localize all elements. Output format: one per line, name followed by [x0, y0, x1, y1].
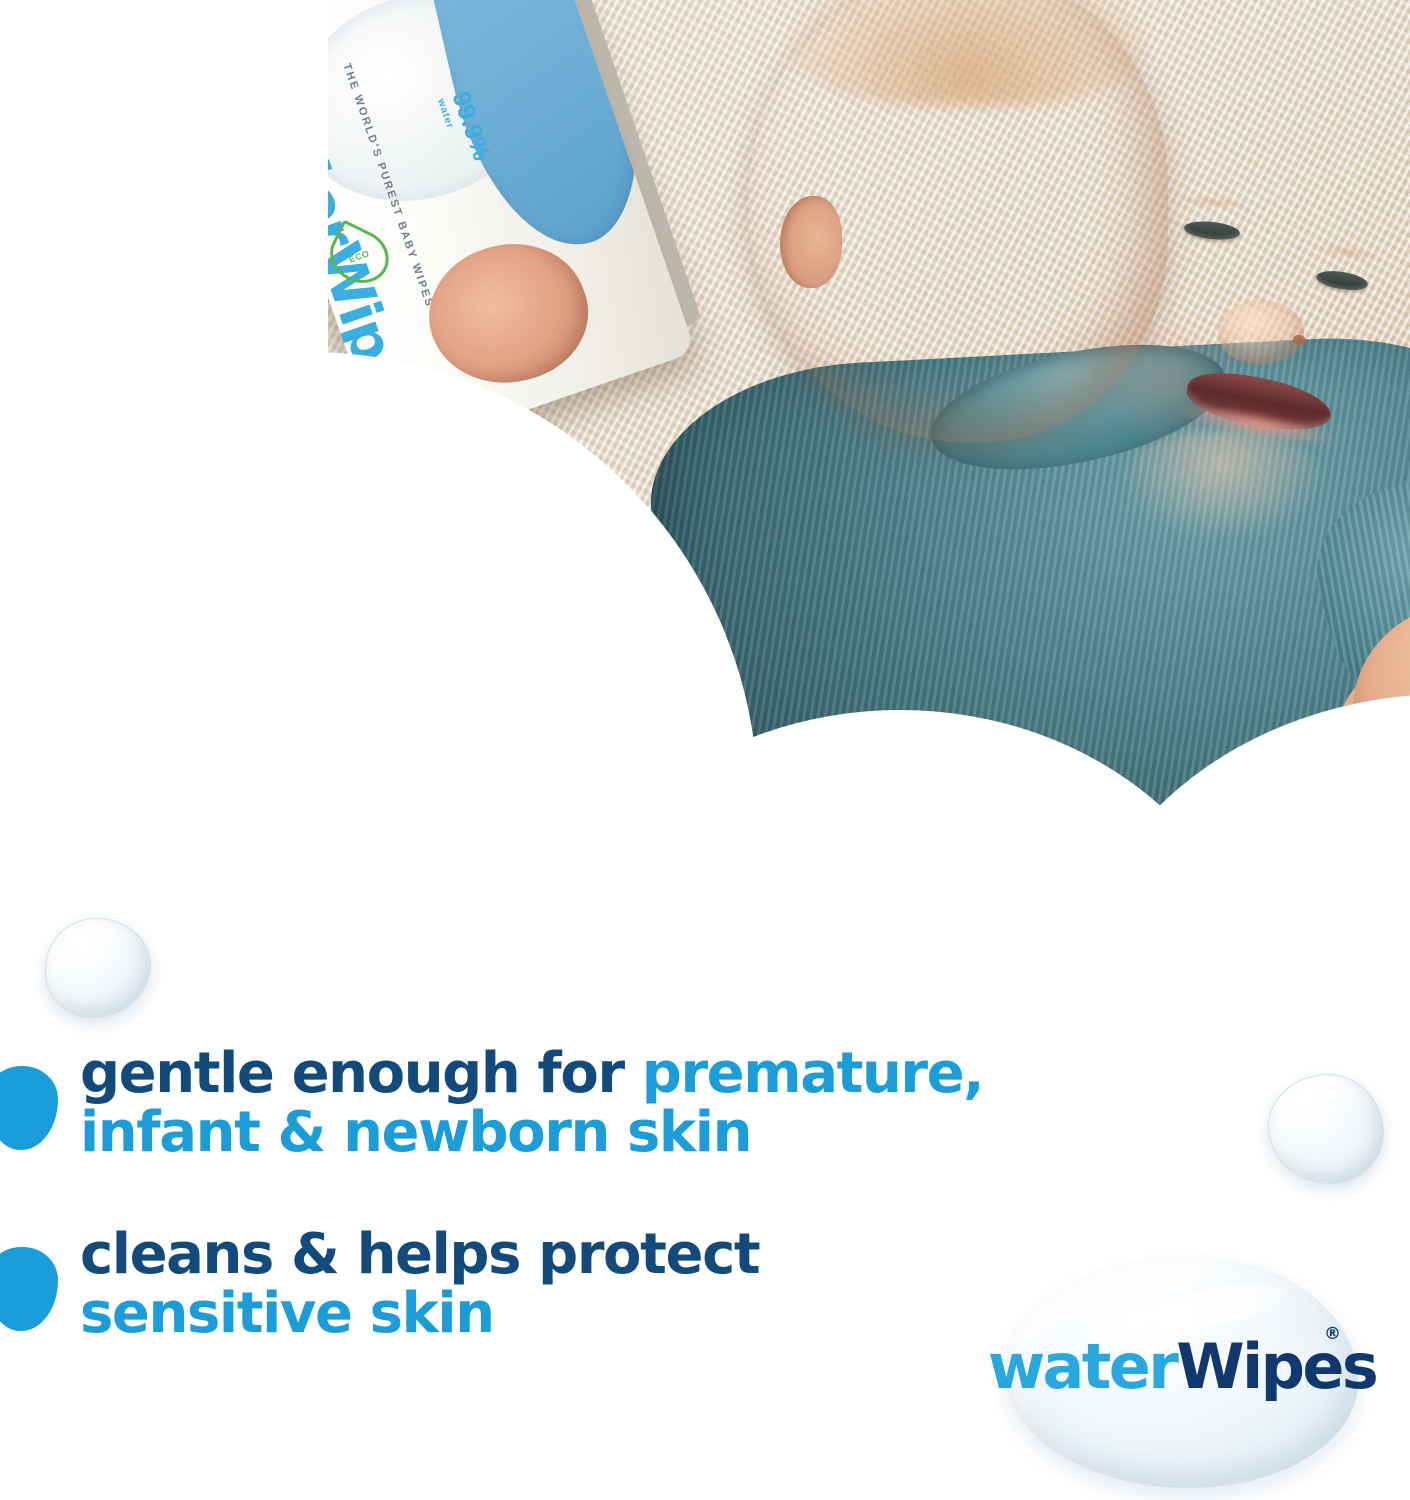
claim-2-line-2: sensitive skin	[80, 1281, 494, 1346]
claims-list: gentle enough for premature, infant & ne…	[0, 1044, 1000, 1405]
hero-photo: waterWipes THE WORLD'S PUREST BABY WIPES…	[188, 0, 1410, 1010]
water-drop-bullet-icon	[0, 1066, 58, 1150]
eco-badge-label: ECO	[347, 248, 370, 264]
package-newborn-photo	[411, 223, 606, 405]
baby-nose	[1218, 300, 1304, 364]
claim-2-line-1: cleans & helps protect	[80, 1222, 759, 1287]
claim-item-cleans: cleans & helps protect sensitive skin	[0, 1225, 1000, 1344]
claim-item-gentle: gentle enough for premature, infant & ne…	[0, 1044, 1000, 1163]
registered-trademark-icon: ®	[1324, 1324, 1341, 1344]
baby-ear	[780, 196, 842, 288]
claim-1-line-1-dark: gentle enough for	[80, 1041, 642, 1106]
brand-word-light: water	[988, 1330, 1176, 1403]
water-droplet-right-icon	[1268, 1074, 1384, 1184]
claim-text-gentle: gentle enough for premature, infant & ne…	[80, 1044, 983, 1163]
claim-text-cleans: cleans & helps protect sensitive skin	[80, 1225, 759, 1344]
water-drop-bullet-icon	[0, 1247, 58, 1331]
hero-photo-clip: waterWipes THE WORLD'S PUREST BABY WIPES…	[188, 0, 1410, 1010]
water-droplet-left-icon	[45, 918, 151, 1018]
baby-chin	[1118, 430, 1328, 540]
claim-1-line-2: infant & newborn skin	[80, 1100, 751, 1165]
claim-1-line-1-light: premature,	[642, 1041, 983, 1106]
brand-word-dark: Wipes	[1176, 1330, 1376, 1403]
brand-logo: waterWipes ®	[972, 1252, 1392, 1498]
